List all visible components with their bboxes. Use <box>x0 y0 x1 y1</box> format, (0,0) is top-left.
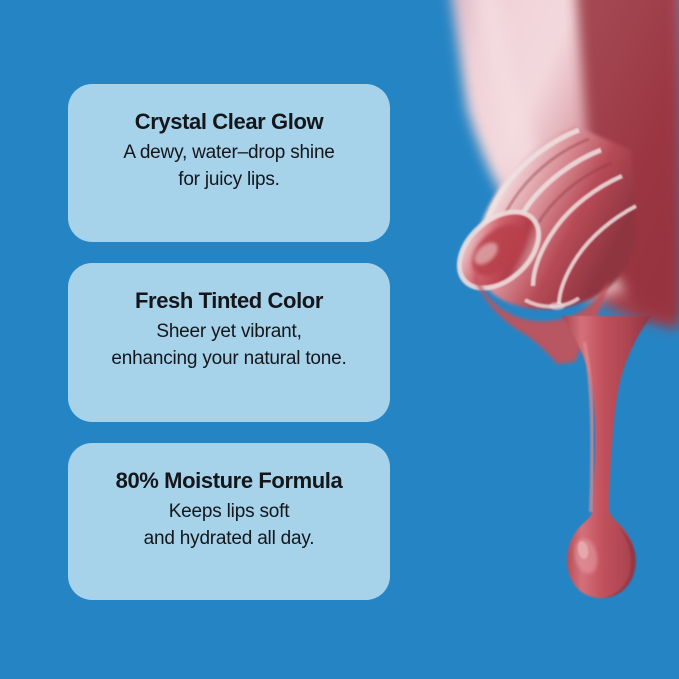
feature-card-moisture-formula: 80% Moisture Formula Keeps lips soft and… <box>68 443 390 600</box>
feature-card-title: Fresh Tinted Color <box>86 289 372 313</box>
feature-card-body-line: and hydrated all day. <box>86 526 372 553</box>
feature-card-title: Crystal Clear Glow <box>86 110 372 134</box>
feature-card-list: Crystal Clear Glow A dewy, water–drop sh… <box>68 84 390 600</box>
feature-card-body-line: for juicy lips. <box>86 167 372 194</box>
feature-card-body: Keeps lips soft and hydrated all day. <box>86 499 372 553</box>
feature-card-body-line: Sheer yet vibrant, <box>86 319 372 346</box>
feature-card-title: 80% Moisture Formula <box>86 469 372 493</box>
feature-card-body: Sheer yet vibrant, enhancing your natura… <box>86 319 372 373</box>
feature-card-fresh-tinted-color: Fresh Tinted Color Sheer yet vibrant, en… <box>68 263 390 422</box>
product-photo <box>379 0 679 679</box>
feature-card-crystal-clear-glow: Crystal Clear Glow A dewy, water–drop sh… <box>68 84 390 242</box>
promo-graphic: Crystal Clear Glow A dewy, water–drop sh… <box>0 0 679 679</box>
feature-card-body-line: enhancing your natural tone. <box>86 346 372 373</box>
feature-card-body: A dewy, water–drop shine for juicy lips. <box>86 140 372 194</box>
feature-card-body-line: A dewy, water–drop shine <box>86 140 372 167</box>
bottle-illustration <box>379 0 679 679</box>
feature-card-body-line: Keeps lips soft <box>86 499 372 526</box>
